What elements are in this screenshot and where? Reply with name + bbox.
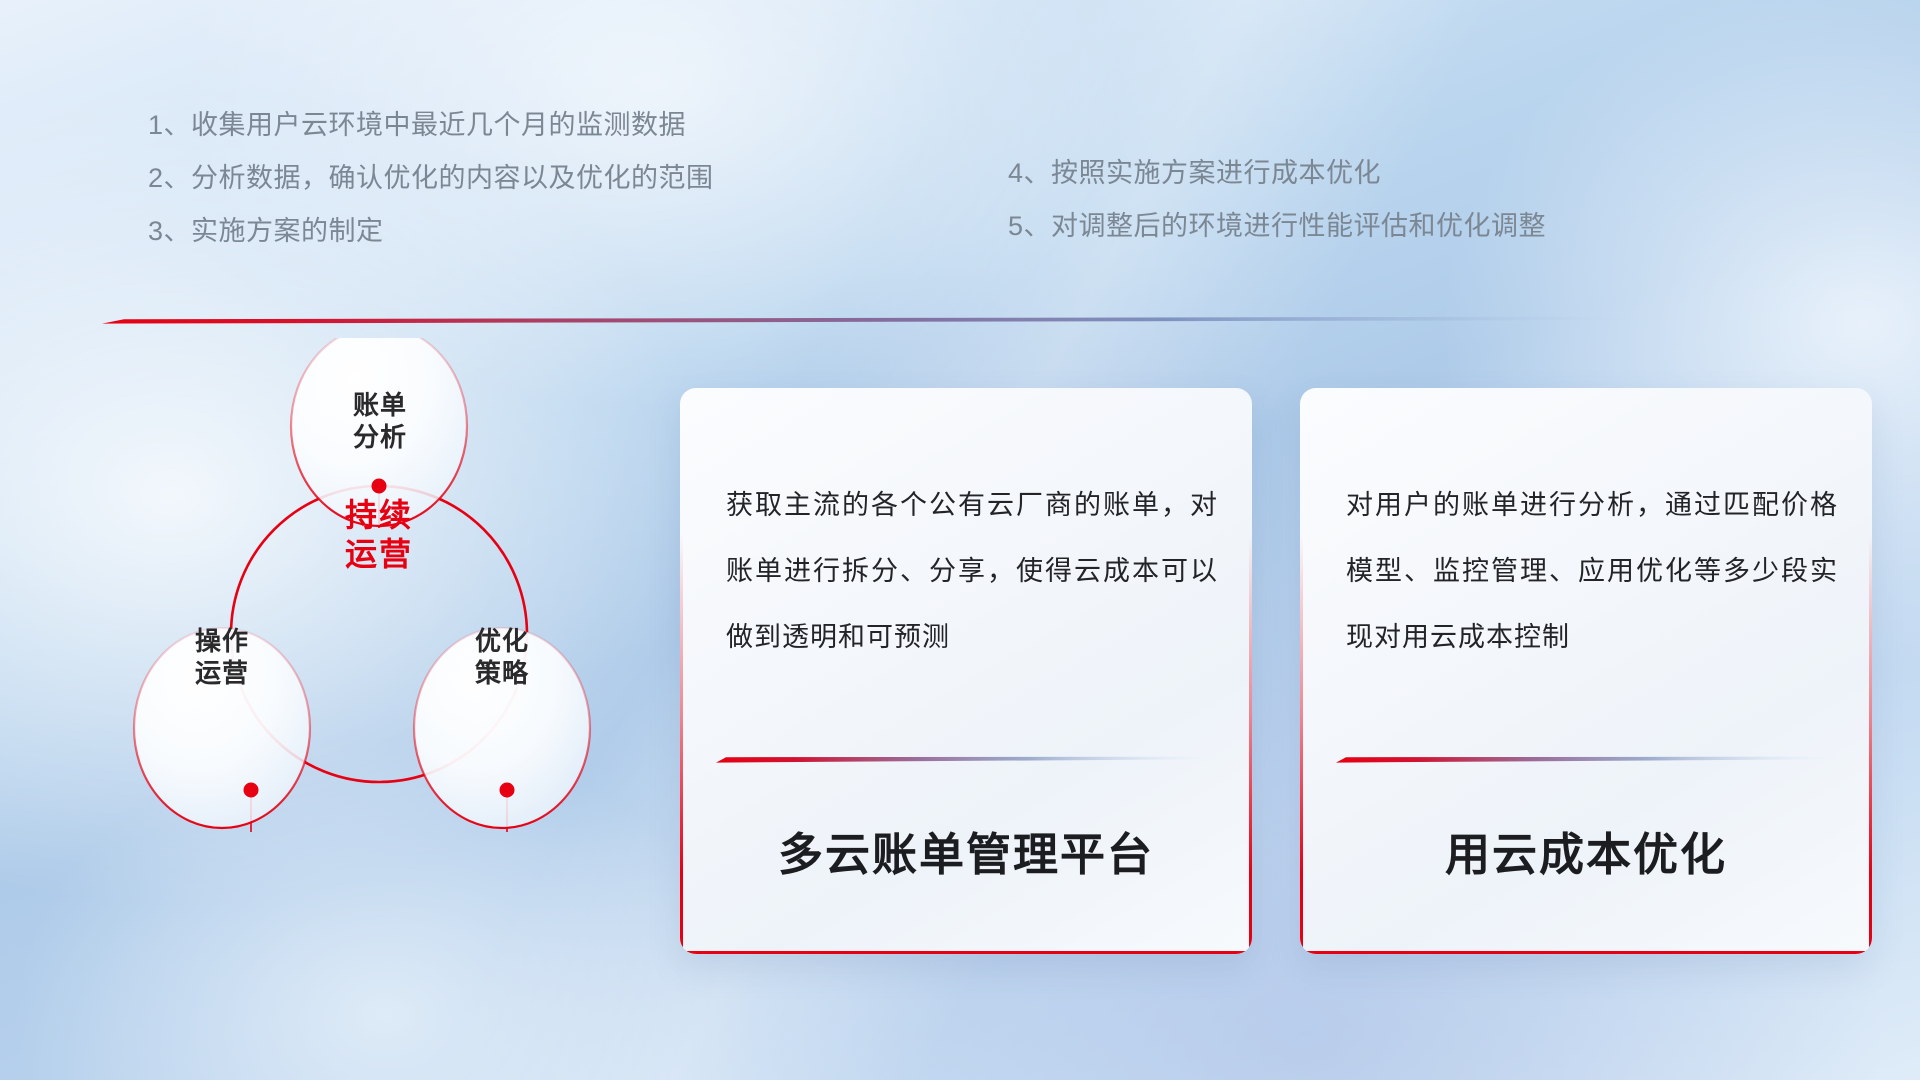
step-item-5: 5、对调整后的环境进行性能评估和优化调整: [1008, 213, 1546, 240]
step-item-1: 1、收集用户云环境中最近几个月的监测数据: [148, 112, 714, 139]
steps-list-right: 4、按照实施方案进行成本优化 5、对调整后的环境进行性能评估和优化调整: [1008, 160, 1546, 240]
card-multi-cloud-bill-platform[interactable]: 获取主流的各个公有云厂商的账单，对账单进行拆分、分享，使得云成本可以做到透明和可…: [680, 388, 1252, 954]
continuous-operations-diagram: [96, 338, 656, 958]
step-item-3: 3、实施方案的制定: [148, 218, 714, 245]
steps-list-left: 1、收集用户云环境中最近几个月的监测数据 2、分析数据，确认优化的内容以及优化的…: [148, 112, 714, 245]
lobe-top: [291, 338, 467, 526]
slide-canvas: 1、收集用户云环境中最近几个月的监测数据 2、分析数据，确认优化的内容以及优化的…: [0, 0, 1920, 1080]
step-item-2: 2、分析数据，确认优化的内容以及优化的范围: [148, 165, 714, 192]
card-2-title: 用云成本优化: [1300, 818, 1872, 883]
lobe-bottom-right: [414, 628, 590, 828]
card-1-rule: [716, 756, 1218, 763]
card-cloud-cost-optimization[interactable]: 对用户的账单进行分析，通过匹配价格模型、监控管理、应用优化等多少段实现对用云成本…: [1300, 388, 1872, 954]
card-2-rule: [1336, 756, 1838, 763]
step-item-4: 4、按照实施方案进行成本优化: [1008, 160, 1546, 187]
section-divider: [102, 314, 1662, 324]
card-2-description: 对用户的账单进行分析，通过匹配价格模型、监控管理、应用优化等多少段实现对用云成本…: [1346, 472, 1838, 670]
node-dot-bottom-right: [500, 783, 515, 798]
node-dot-top: [372, 479, 387, 494]
card-1-description: 获取主流的各个公有云厂商的账单，对账单进行拆分、分享，使得云成本可以做到透明和可…: [726, 472, 1218, 670]
node-dot-bottom-left: [244, 783, 259, 798]
card-1-title: 多云账单管理平台: [680, 818, 1252, 883]
lobe-bottom-left: [134, 628, 310, 828]
